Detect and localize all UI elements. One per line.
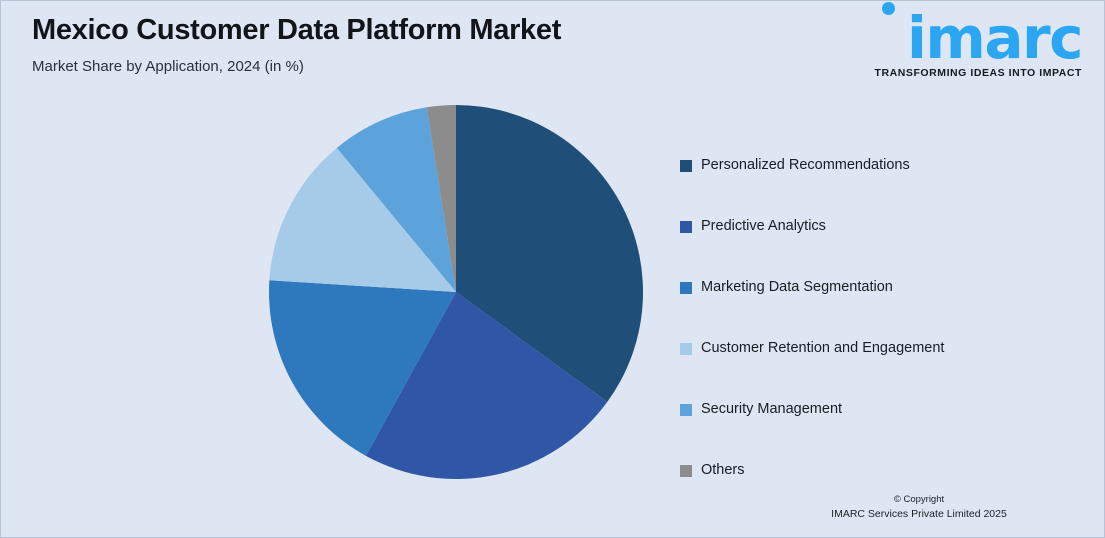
legend-item[interactable]: Marketing Data Segmentation <box>680 257 1080 318</box>
legend-label: Security Management <box>701 402 842 417</box>
legend-label: Marketing Data Segmentation <box>701 280 893 295</box>
legend-item[interactable]: Security Management <box>680 379 1080 440</box>
legend-label: Predictive Analytics <box>701 219 826 234</box>
legend-swatch-icon <box>680 343 692 355</box>
copyright-line-1: © Copyright <box>754 493 1084 507</box>
legend-swatch-icon <box>680 221 692 233</box>
legend-label: Customer Retention and Engagement <box>701 341 944 356</box>
legend-item[interactable]: Customer Retention and Engagement <box>680 318 1080 379</box>
copyright-block: © Copyright IMARC Services Private Limit… <box>754 493 1084 523</box>
chart-canvas: Mexico Customer Data Platform Market Mar… <box>0 0 1105 538</box>
page-title: Mexico Customer Data Platform Market <box>32 15 732 47</box>
legend-item[interactable]: Others <box>680 440 1080 501</box>
logo-wordmark: imarc <box>869 13 1084 64</box>
logo-dot-icon <box>882 2 895 15</box>
legend-item[interactable]: Personalized Recommendations <box>680 135 1080 196</box>
chart-header: Mexico Customer Data Platform Market Mar… <box>32 15 732 76</box>
legend-label: Personalized Recommendations <box>701 158 910 173</box>
pie-chart-svg <box>268 104 644 480</box>
legend-swatch-icon <box>680 465 692 477</box>
imarc-logo: imarc TRANSFORMING IDEAS INTO IMPACT <box>869 13 1084 79</box>
logo-wordmark-text: imarc <box>907 4 1082 72</box>
legend-label: Others <box>701 463 745 478</box>
legend-item[interactable]: Predictive Analytics <box>680 196 1080 257</box>
copyright-line-2: IMARC Services Private Limited 2025 <box>754 507 1084 523</box>
legend-swatch-icon <box>680 404 692 416</box>
legend-swatch-icon <box>680 282 692 294</box>
legend-swatch-icon <box>680 160 692 172</box>
chart-subtitle: Market Share by Application, 2024 (in %) <box>32 58 732 76</box>
pie-chart <box>268 104 644 480</box>
chart-legend: Personalized RecommendationsPredictive A… <box>680 135 1080 501</box>
